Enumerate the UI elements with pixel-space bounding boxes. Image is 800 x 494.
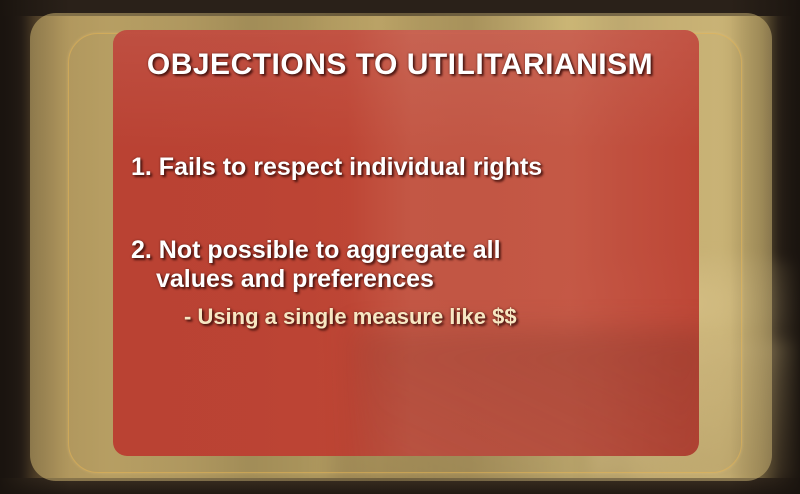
bullet-item-2-line-1: 2. Not possible to aggregate all [131, 236, 501, 264]
slide-content: OBJECTIONS TO UTILITARIANISM 1. Fails to… [0, 0, 800, 494]
presentation-slide: OBJECTIONS TO UTILITARIANISM 1. Fails to… [0, 0, 800, 494]
bullet-item-2-line-2: values and preferences [131, 265, 501, 294]
bullet-item-2: 2. Not possible to aggregate all values … [131, 236, 501, 294]
subpoint-item-1: - Using a single measure like $$ [184, 304, 517, 330]
bullet-item-1-line-1: 1. Fails to respect individual rights [131, 153, 542, 181]
slide-title: OBJECTIONS TO UTILITARIANISM [0, 48, 800, 82]
bullet-item-1: 1. Fails to respect individual rights [131, 153, 542, 182]
